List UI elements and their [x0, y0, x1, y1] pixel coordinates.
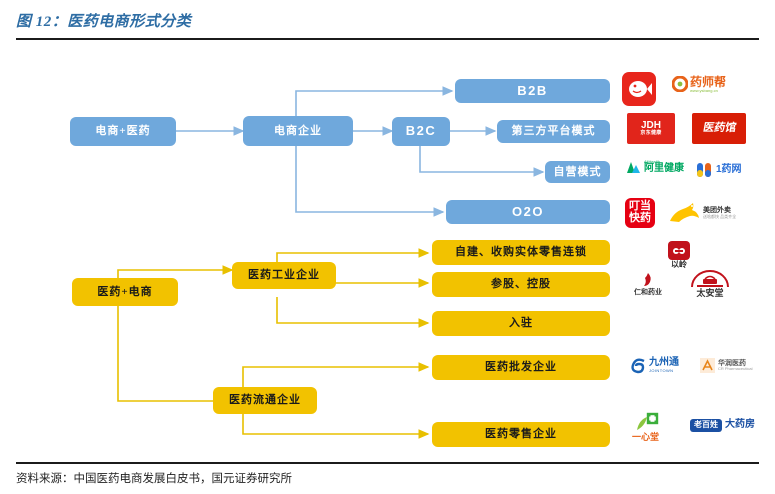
- node-settle-in[interactable]: 入驻: [432, 311, 610, 336]
- laobaixing-sublabel: 大药房: [725, 420, 755, 431]
- yiling-label: 以岭: [671, 261, 687, 269]
- jdh-badge-icon: JDH 京东健康: [627, 113, 675, 144]
- logo-jiuzhoutong: 九州通 JOINTOWN: [630, 357, 679, 374]
- taiantang-label: 太安堂: [696, 289, 723, 298]
- node-b2b[interactable]: B2B: [455, 79, 610, 103]
- fish-icon: [626, 78, 652, 100]
- logo-fish-mascot: [622, 72, 656, 106]
- logo-yiling: 以岭: [668, 241, 690, 269]
- node-self-build-retail[interactable]: 自建、收购实体零售连锁: [432, 240, 610, 265]
- node-b2c[interactable]: B2C: [392, 117, 450, 146]
- logo-yixintang: 一心堂: [632, 412, 659, 442]
- renhe-label: 仁和药业: [634, 289, 662, 296]
- figure-canvas: 图 12：医药电商形式分类: [0, 0, 775, 494]
- logo-yaoshibang: 药师帮 www.ysbang.cn: [672, 76, 726, 93]
- logo-alihealth: AliHealth 阿里健康: [625, 160, 684, 175]
- laobaixing-label: 老百姓: [694, 421, 718, 429]
- source-note: 资料来源：中国医药电商发展白皮书，国元证券研究所: [16, 470, 292, 486]
- yixintang-label: 一心堂: [632, 433, 659, 442]
- logo-yiyaoguan: 医药馆: [692, 113, 746, 144]
- yiling-mark-icon: [672, 245, 686, 257]
- logo-meituan: 美团外卖 送啥都快 品类齐全: [667, 201, 736, 225]
- jdh-sublabel: 京东健康: [640, 131, 661, 136]
- yiyaoguan-badge-icon: 医药馆: [692, 113, 746, 144]
- logo-jdh: JDH 京东健康: [627, 113, 675, 144]
- page-title: 图 12：医药电商形式分类: [16, 10, 191, 31]
- node-ecom-pharma[interactable]: 电商+医药: [70, 117, 176, 146]
- node-pharma-distribution[interactable]: 医药流通企业: [213, 387, 317, 414]
- fish-mascot-icon: [622, 72, 656, 106]
- crpharma-mark-icon: [700, 358, 715, 373]
- alihealth-mark-icon: [625, 160, 641, 175]
- yiling-badge-icon: [668, 241, 690, 260]
- footer-divider: [16, 462, 759, 464]
- node-pharma-retail[interactable]: 医药零售企业: [432, 422, 610, 447]
- dingdang-label: 叮当快药: [625, 201, 655, 224]
- dingdang-badge-icon: 叮当快药: [625, 198, 655, 228]
- node-pharma-ecom[interactable]: 医药+电商: [72, 278, 178, 306]
- logo-yiyaowang: 1药网: [696, 162, 742, 178]
- capsule-icon: [696, 162, 713, 178]
- yiyaoguan-label: 医药馆: [701, 123, 736, 135]
- crpharma-sublabel: CR Pharmaceutical: [718, 367, 752, 371]
- yaoshibang-mark-icon: [672, 76, 688, 92]
- node-o2o[interactable]: O2O: [446, 200, 610, 224]
- yaoshibang-url: www.ysbang.cn: [690, 89, 726, 93]
- taiantang-mark-icon: [687, 270, 733, 288]
- node-third-party-platform[interactable]: 第三方平台模式: [497, 120, 610, 143]
- logo-renhe: 仁和药业: [634, 272, 662, 296]
- laobaixing-badge-icon: 老百姓: [690, 419, 722, 432]
- logo-laobaixing: 老百姓 大药房: [690, 419, 755, 432]
- renhe-mark-icon: [639, 272, 657, 288]
- jiuzhoutong-mark-icon: [630, 357, 647, 374]
- node-ecom-enterprise[interactable]: 电商企业: [243, 116, 353, 146]
- node-equity-holding[interactable]: 参股、控股: [432, 272, 610, 297]
- yiyaowang-label: 1药网: [716, 165, 742, 176]
- meituan-sublabel: 送啥都快 品类齐全: [703, 215, 736, 219]
- title-divider: [16, 38, 759, 40]
- logo-crpharma: 华润医药 CR Pharmaceutical: [700, 358, 752, 373]
- node-pharma-industry[interactable]: 医药工业企业: [232, 262, 336, 289]
- logo-dingdang: 叮当快药: [625, 198, 655, 228]
- logo-taiantang: 太安堂: [687, 270, 733, 298]
- jiuzhoutong-sublabel: JOINTOWN: [649, 369, 679, 373]
- alihealth-label: 阿里健康: [644, 164, 684, 175]
- node-pharma-wholesale[interactable]: 医药批发企业: [432, 355, 610, 380]
- kangaroo-icon: [667, 201, 701, 225]
- green-cross-icon: [633, 412, 659, 432]
- node-self-operated[interactable]: 自营模式: [545, 161, 610, 183]
- yaoshibang-label: 药师帮: [690, 76, 726, 89]
